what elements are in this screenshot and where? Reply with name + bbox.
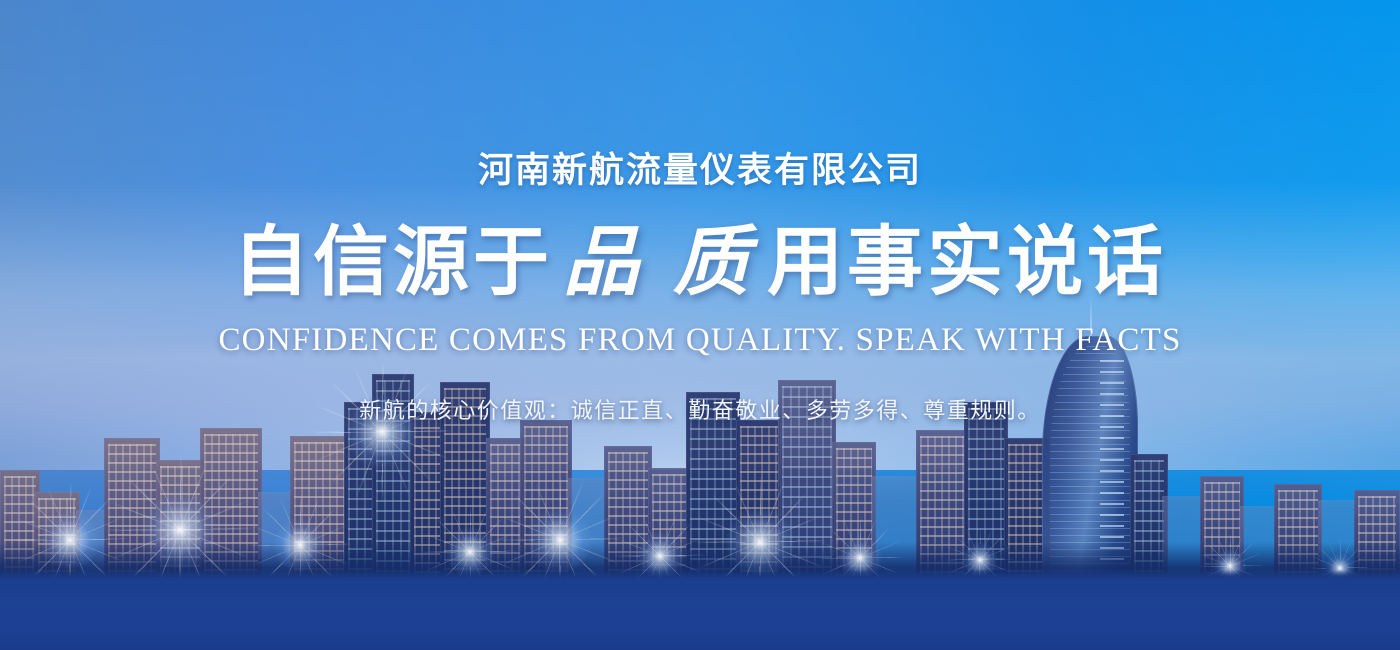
core-values-tagline: 新航的核心价值观：诚信正直、勤奋敬业、多劳多得、尊重规则。 xyxy=(0,393,1400,425)
headline-brush-pin: 品 xyxy=(553,217,663,306)
company-name: 河南新航流量仪表有限公司 xyxy=(0,152,1400,191)
headline-part-1: 自信源于 xyxy=(233,217,553,306)
headline-brush-zhi: 质 xyxy=(663,217,767,306)
english-subtitle: CONFIDENCE COMES FROM QUALITY. SPEAK WIT… xyxy=(0,322,1400,359)
hero-banner: 河南新航流量仪表有限公司 自信源于品质用事实说话 CONFIDENCE COME… xyxy=(0,0,1400,650)
headline-part-2: 用事实说话 xyxy=(767,217,1167,306)
water-surface xyxy=(0,578,1400,650)
hero-text-stack: 河南新航流量仪表有限公司 自信源于品质用事实说话 CONFIDENCE COME… xyxy=(0,0,1400,425)
hero-headline: 自信源于品质用事实说话 xyxy=(0,224,1400,300)
